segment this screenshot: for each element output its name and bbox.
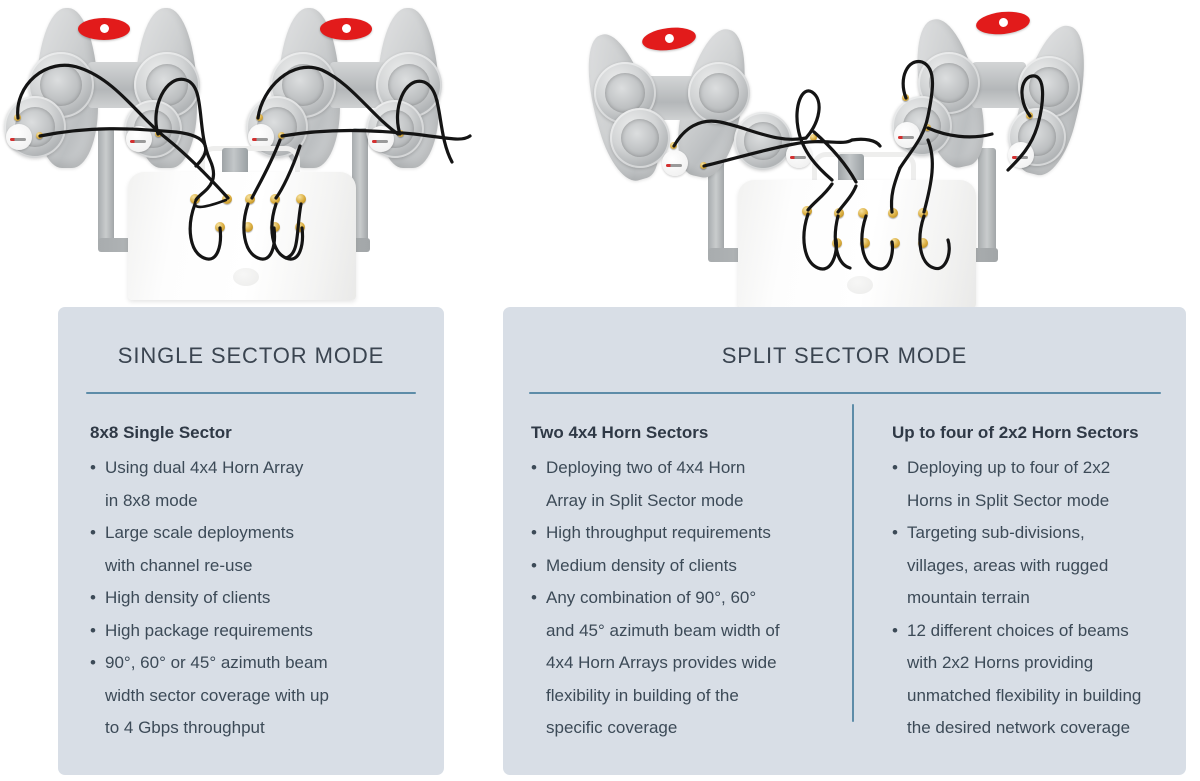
black-coax-cable	[0, 0, 500, 310]
antenna-assembly-single-sector	[0, 0, 500, 310]
bullet-item: Deploying two of 4x4 HornArray in Split …	[531, 452, 832, 517]
bullet-item: Using dual 4x4 Horn Arrayin 8x8 mode	[90, 452, 426, 517]
bullet-list: Deploying two of 4x4 HornArray in Split …	[531, 452, 832, 745]
panel-single-sector: SINGLE SECTOR MODE 8x8 Single Sector Usi…	[58, 307, 444, 775]
black-coax-cable	[580, 0, 1140, 310]
bullet-item: 90°, 60° or 45° azimuth beamwidth sector…	[90, 647, 426, 745]
panel-columns: Two 4x4 Horn Sectors Deploying two of 4x…	[503, 394, 1186, 745]
bullet-item: Deploying up to four of 2x2Horns in Spli…	[892, 452, 1176, 517]
column-divider	[852, 404, 854, 722]
column-up-to-four-2x2-horn-sectors: Up to four of 2x2 Horn Sectors Deploying…	[844, 422, 1186, 745]
bullet-item: Targeting sub-divisions,villages, areas …	[892, 517, 1176, 615]
page-root: SINGLE SECTOR MODE 8x8 Single Sector Usi…	[0, 0, 1200, 781]
product-photo-split-sector	[580, 0, 1140, 310]
bullet-list: Using dual 4x4 Horn Arrayin 8x8 modeLarg…	[90, 452, 426, 745]
panel-title-split-sector: SPLIT SECTOR MODE	[503, 307, 1186, 369]
column-heading: Up to four of 2x2 Horn Sectors	[892, 422, 1176, 443]
column-8x8-single-sector: 8x8 Single Sector Using dual 4x4 Horn Ar…	[58, 422, 444, 745]
column-heading: Two 4x4 Horn Sectors	[531, 422, 832, 443]
bullet-item: Large scale deploymentswith channel re-u…	[90, 517, 426, 582]
panel-split-sector: SPLIT SECTOR MODE Two 4x4 Horn Sectors D…	[503, 307, 1186, 775]
bullet-list: Deploying up to four of 2x2Horns in Spli…	[892, 452, 1176, 745]
panel-columns: 8x8 Single Sector Using dual 4x4 Horn Ar…	[58, 394, 444, 745]
bullet-item: High throughput requirements	[531, 517, 832, 550]
bullet-item: Medium density of clients	[531, 550, 832, 583]
bullet-item: High package requirements	[90, 615, 426, 648]
bullet-item: High density of clients	[90, 582, 426, 615]
column-two-4x4-horn-sectors: Two 4x4 Horn Sectors Deploying two of 4x…	[503, 422, 844, 745]
antenna-assembly-split-sector	[580, 0, 1140, 310]
bullet-item: 12 different choices of beamswith 2x2 Ho…	[892, 615, 1176, 745]
panel-title-single-sector: SINGLE SECTOR MODE	[58, 307, 444, 369]
column-heading: 8x8 Single Sector	[90, 422, 426, 443]
bullet-item: Any combination of 90°, 60°and 45° azimu…	[531, 582, 832, 745]
product-photo-single-sector	[0, 0, 500, 310]
